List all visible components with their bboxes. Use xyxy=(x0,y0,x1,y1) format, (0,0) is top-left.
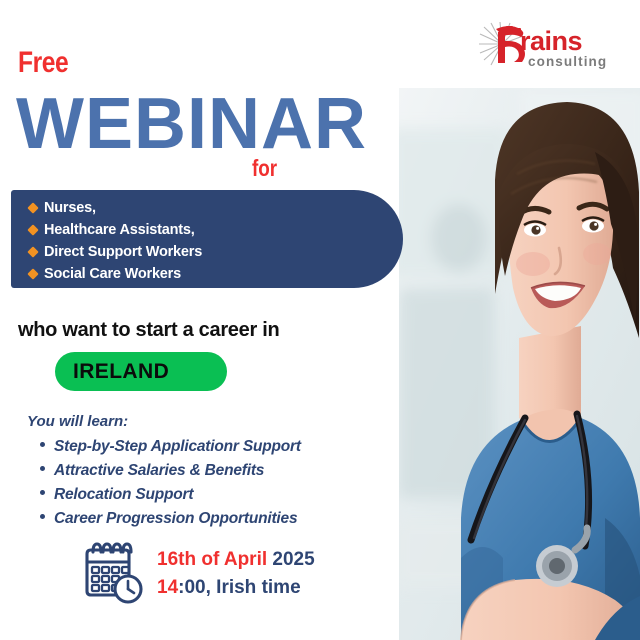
audience-item: Healthcare Assistants, xyxy=(29,222,195,238)
nurse-photo-illustration xyxy=(399,88,640,640)
learn-item: Career Progression Opportunities xyxy=(40,510,297,528)
audience-item: Nurses, xyxy=(29,200,96,216)
learn-item: Relocation Support xyxy=(40,486,193,504)
calendar-clock-icon xyxy=(78,541,146,605)
learn-item-label: Attractive Salaries & Benefits xyxy=(54,462,264,480)
country-badge: IRELAND xyxy=(55,352,227,391)
audience-item: Social Care Workers xyxy=(29,266,181,282)
dot-bullet-icon xyxy=(40,514,45,519)
diamond-bullet-icon xyxy=(27,268,38,279)
audience-list-panel: Nurses, Healthcare Assistants, Direct Su… xyxy=(11,190,403,288)
learn-item: Step-by-Step Applicationr Support xyxy=(40,438,301,456)
diamond-bullet-icon xyxy=(27,246,38,257)
audience-item-label: Social Care Workers xyxy=(44,266,181,282)
learn-section-title: You will learn: xyxy=(27,414,128,429)
logo-wordmark-secondary: consulting xyxy=(528,55,607,69)
headline-kicker: Free xyxy=(18,48,68,78)
logo-wordmark-primary: rains xyxy=(520,28,582,55)
learn-item-label: Relocation Support xyxy=(54,486,193,504)
dot-bullet-icon xyxy=(40,442,45,447)
page-title: WEBINAR xyxy=(16,88,367,160)
learn-item: Attractive Salaries & Benefits xyxy=(40,462,264,480)
webinar-time: 14:00, Irish time xyxy=(157,578,301,597)
nurse-photo xyxy=(399,88,640,640)
headline-connector: for xyxy=(252,157,277,180)
webinar-time-rest: :00, Irish time xyxy=(178,577,301,598)
dot-bullet-icon xyxy=(40,466,45,471)
learn-item-label: Step-by-Step Applicationr Support xyxy=(54,438,301,456)
webinar-poster: rains consulting Free WEBINAR for Nurses… xyxy=(0,0,640,640)
career-lead-text: who want to start a career in xyxy=(18,320,279,340)
audience-item: Direct Support Workers xyxy=(29,244,202,260)
webinar-date: 16th of April 2025 xyxy=(157,550,315,569)
country-badge-label: IRELAND xyxy=(73,360,169,384)
diamond-bullet-icon xyxy=(27,202,38,213)
audience-item-label: Direct Support Workers xyxy=(44,244,202,260)
webinar-time-hour: 14 xyxy=(157,577,178,598)
dot-bullet-icon xyxy=(40,490,45,495)
learn-item-label: Career Progression Opportunities xyxy=(54,510,297,528)
diamond-bullet-icon xyxy=(27,224,38,235)
webinar-date-year: 2025 xyxy=(272,549,314,570)
audience-item-label: Healthcare Assistants, xyxy=(44,222,195,238)
webinar-date-day: 16th of April xyxy=(157,549,267,570)
brand-logo: rains consulting xyxy=(476,22,616,74)
audience-item-label: Nurses, xyxy=(44,200,96,216)
